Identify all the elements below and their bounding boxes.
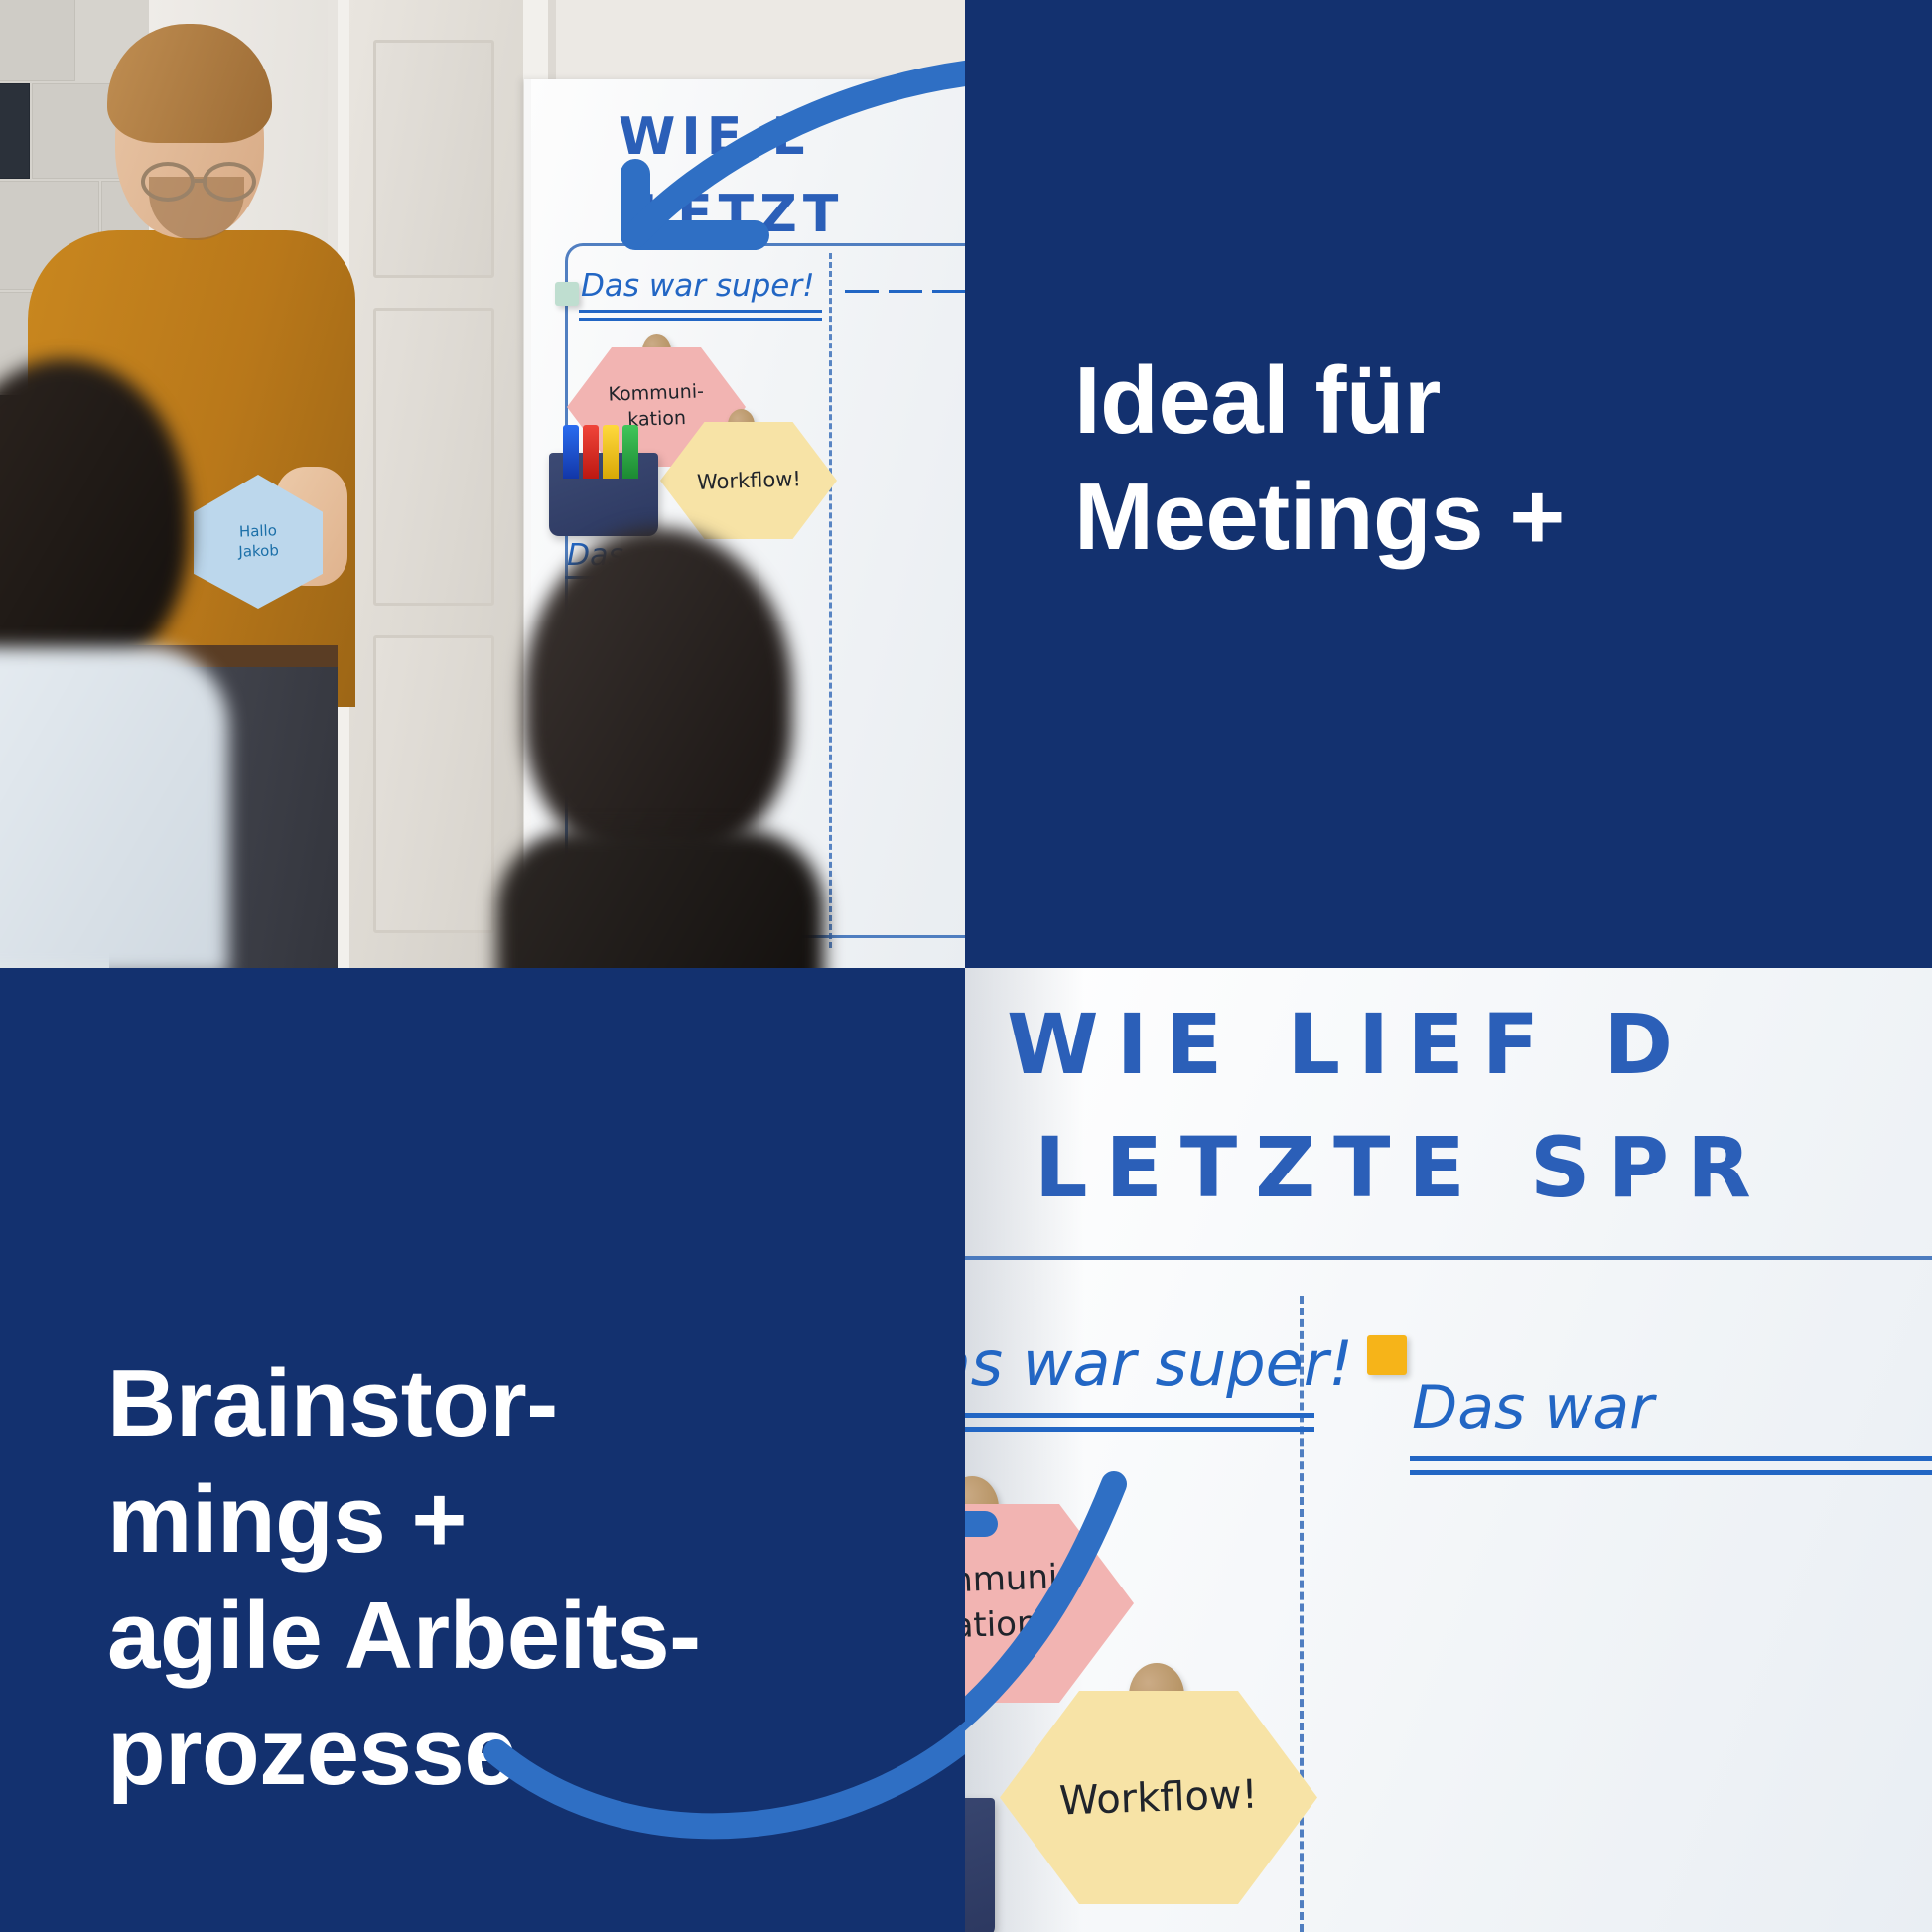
magnet-yellow <box>1367 1335 1407 1375</box>
whiteboard-column-heading: Das war super! <box>581 268 815 304</box>
headline-brainstormings: Brainstor- mings + agile Arbeits- prozes… <box>107 1345 701 1810</box>
headline-ideal-fuer-meetings: Ideal für Meetings + <box>1074 343 1565 575</box>
door <box>349 0 523 968</box>
note-kommunikation-label: Kommuni- kation <box>965 1555 1072 1652</box>
note-workflow-label: Workflow! <box>696 465 801 496</box>
whiteboard-title-line1: WIE LIEF D <box>1007 996 1691 1093</box>
whiteboard-title-line1: WIE L <box>619 107 810 167</box>
photo-panel-bottom-right: WIE LIEF D LETZTE SPR Das war super! Kom… <box>965 968 1932 1932</box>
whiteboard-title-line2: LETZTE SPR <box>1035 1119 1769 1216</box>
pen-green <box>622 425 638 479</box>
glasses-icon-right <box>203 162 256 202</box>
whiteboard-closeup: WIE LIEF D LETZTE SPR Das war super! Kom… <box>965 968 1932 1932</box>
composite-image: WIE L LETZT Das war super! Kommuni- kati… <box>0 0 1932 1932</box>
foreground-head-right <box>524 528 792 856</box>
office-scene: WIE L LETZT Das war super! Kommuni- kati… <box>0 0 965 968</box>
glasses-bridge <box>195 179 205 183</box>
foreground-shoulder-left <box>0 647 228 968</box>
pen-blue <box>563 425 579 479</box>
glasses-icon <box>141 162 195 202</box>
whiteboard-left-heading: Das war super! <box>965 1327 1353 1400</box>
pen-yellow <box>603 425 619 479</box>
pen-pocket <box>965 1798 995 1932</box>
pen-red <box>583 425 599 479</box>
text-panel-bottom-left: Brainstor- mings + agile Arbeits- prozes… <box>0 968 965 1932</box>
photo-panel-top-left: WIE L LETZT Das war super! Kommuni- kati… <box>0 0 965 968</box>
card-in-hand-text: Hallo Jakob <box>237 521 279 563</box>
door-frame <box>328 0 556 968</box>
text-panel-top-right: Ideal für Meetings + <box>965 0 1932 968</box>
whiteboard-title-line2: LETZT <box>638 185 844 244</box>
magnet-green <box>555 282 579 306</box>
foreground-shoulder-right <box>496 830 824 968</box>
whiteboard-right-heading: Das war <box>1412 1373 1654 1443</box>
whiteboard-column-divider <box>829 253 832 948</box>
note-workflow-label: Workflow! <box>1058 1767 1258 1828</box>
